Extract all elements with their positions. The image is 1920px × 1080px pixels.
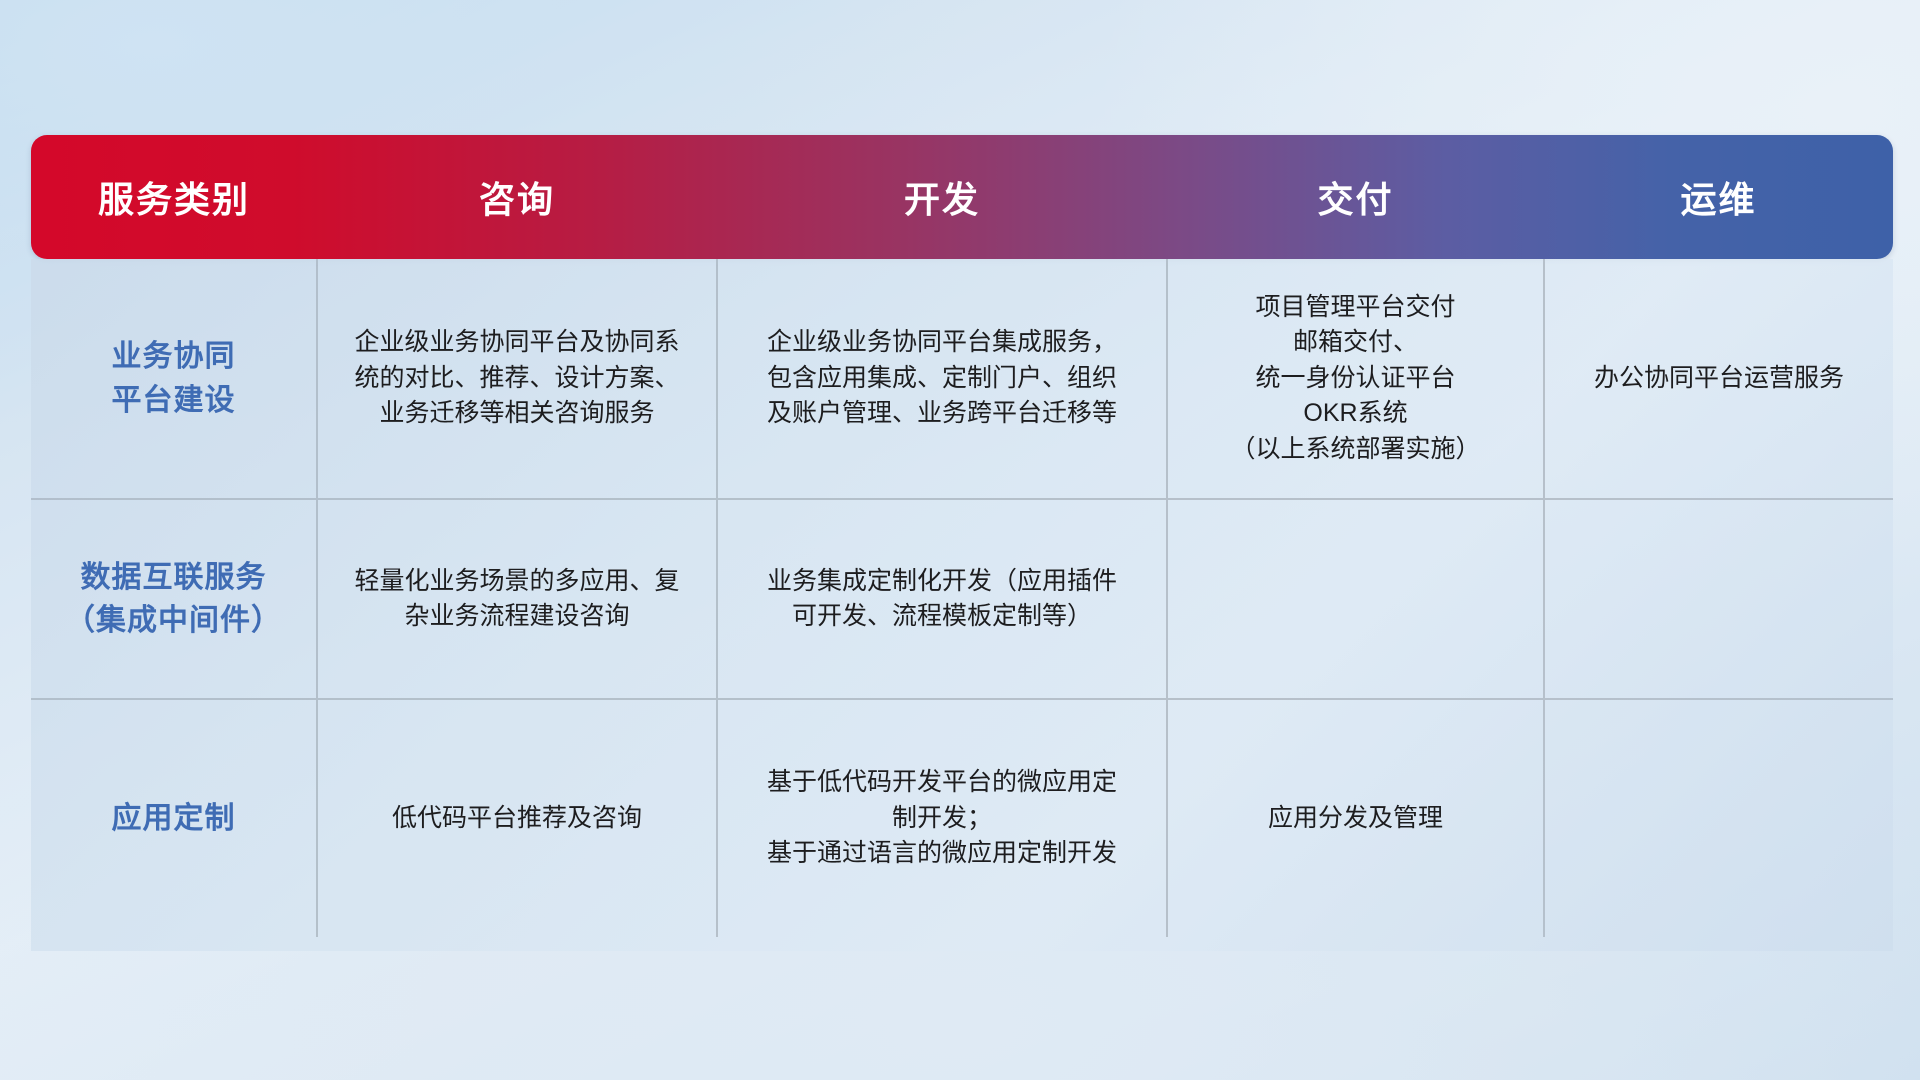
table-header: 服务类别 咨询 开发 交付 运维 <box>31 135 1893 259</box>
column-header-service-category[interactable]: 服务类别 <box>31 135 317 259</box>
header-label: 咨询 <box>479 179 555 220</box>
column-header-consulting[interactable]: 咨询 <box>317 135 717 259</box>
cell-operations-r2 <box>1544 499 1893 699</box>
cell-development-r2: 业务集成定制化开发（应用插件 可开发、流程模板定制等） <box>717 499 1167 699</box>
header-label: 运维 <box>1680 179 1756 220</box>
header-row: 服务类别 咨询 开发 交付 运维 <box>31 135 1893 259</box>
cell-delivery-r2 <box>1167 499 1544 699</box>
table-body: 业务协同 平台建设 企业级业务协同平台及协同系 统的对比、推荐、设计方案、 业务… <box>31 259 1893 937</box>
table-row: 应用定制 低代码平台推荐及咨询 基于低代码开发平台的微应用定 制开发； 基于通过… <box>31 699 1893 937</box>
column-header-development[interactable]: 开发 <box>717 135 1167 259</box>
header-label: 服务类别 <box>98 179 250 220</box>
column-header-delivery[interactable]: 交付 <box>1167 135 1544 259</box>
cell-consulting-r3: 低代码平台推荐及咨询 <box>317 699 717 937</box>
cell-delivery-r3: 应用分发及管理 <box>1167 699 1544 937</box>
cell-development-r1: 企业级业务协同平台集成服务， 包含应用集成、定制门户、组织 及账户管理、业务跨平… <box>717 259 1167 499</box>
cell-consulting-r2: 轻量化业务场景的多应用、复 杂业务流程建设咨询 <box>317 499 717 699</box>
row-label-app-customization: 应用定制 <box>31 699 317 937</box>
row-label-data-interconnect: 数据互联服务 （集成中间件） <box>31 499 317 699</box>
cell-delivery-r1: 项目管理平台交付 邮箱交付、 统一身份认证平台 OKR系统 （以上系统部署实施） <box>1167 259 1544 499</box>
cell-operations-r1: 办公协同平台运营服务 <box>1544 259 1893 499</box>
slide-canvas: 服务类别 咨询 开发 交付 运维 <box>0 0 1920 1080</box>
cell-development-r3: 基于低代码开发平台的微应用定 制开发； 基于通过语言的微应用定制开发 <box>717 699 1167 937</box>
header-label: 交付 <box>1317 179 1393 220</box>
cell-operations-r3 <box>1544 699 1893 937</box>
column-header-operations[interactable]: 运维 <box>1544 135 1893 259</box>
table-row: 数据互联服务 （集成中间件） 轻量化业务场景的多应用、复 杂业务流程建设咨询 业… <box>31 499 1893 699</box>
cell-consulting-r1: 企业级业务协同平台及协同系 统的对比、推荐、设计方案、 业务迁移等相关咨询服务 <box>317 259 717 499</box>
header-label: 开发 <box>904 179 980 220</box>
service-table: 服务类别 咨询 开发 交付 运维 <box>31 135 1893 937</box>
row-label-business-collaboration: 业务协同 平台建设 <box>31 259 317 499</box>
table-row: 业务协同 平台建设 企业级业务协同平台及协同系 统的对比、推荐、设计方案、 业务… <box>31 259 1893 499</box>
service-matrix-table: 服务类别 咨询 开发 交付 运维 <box>31 135 1893 951</box>
